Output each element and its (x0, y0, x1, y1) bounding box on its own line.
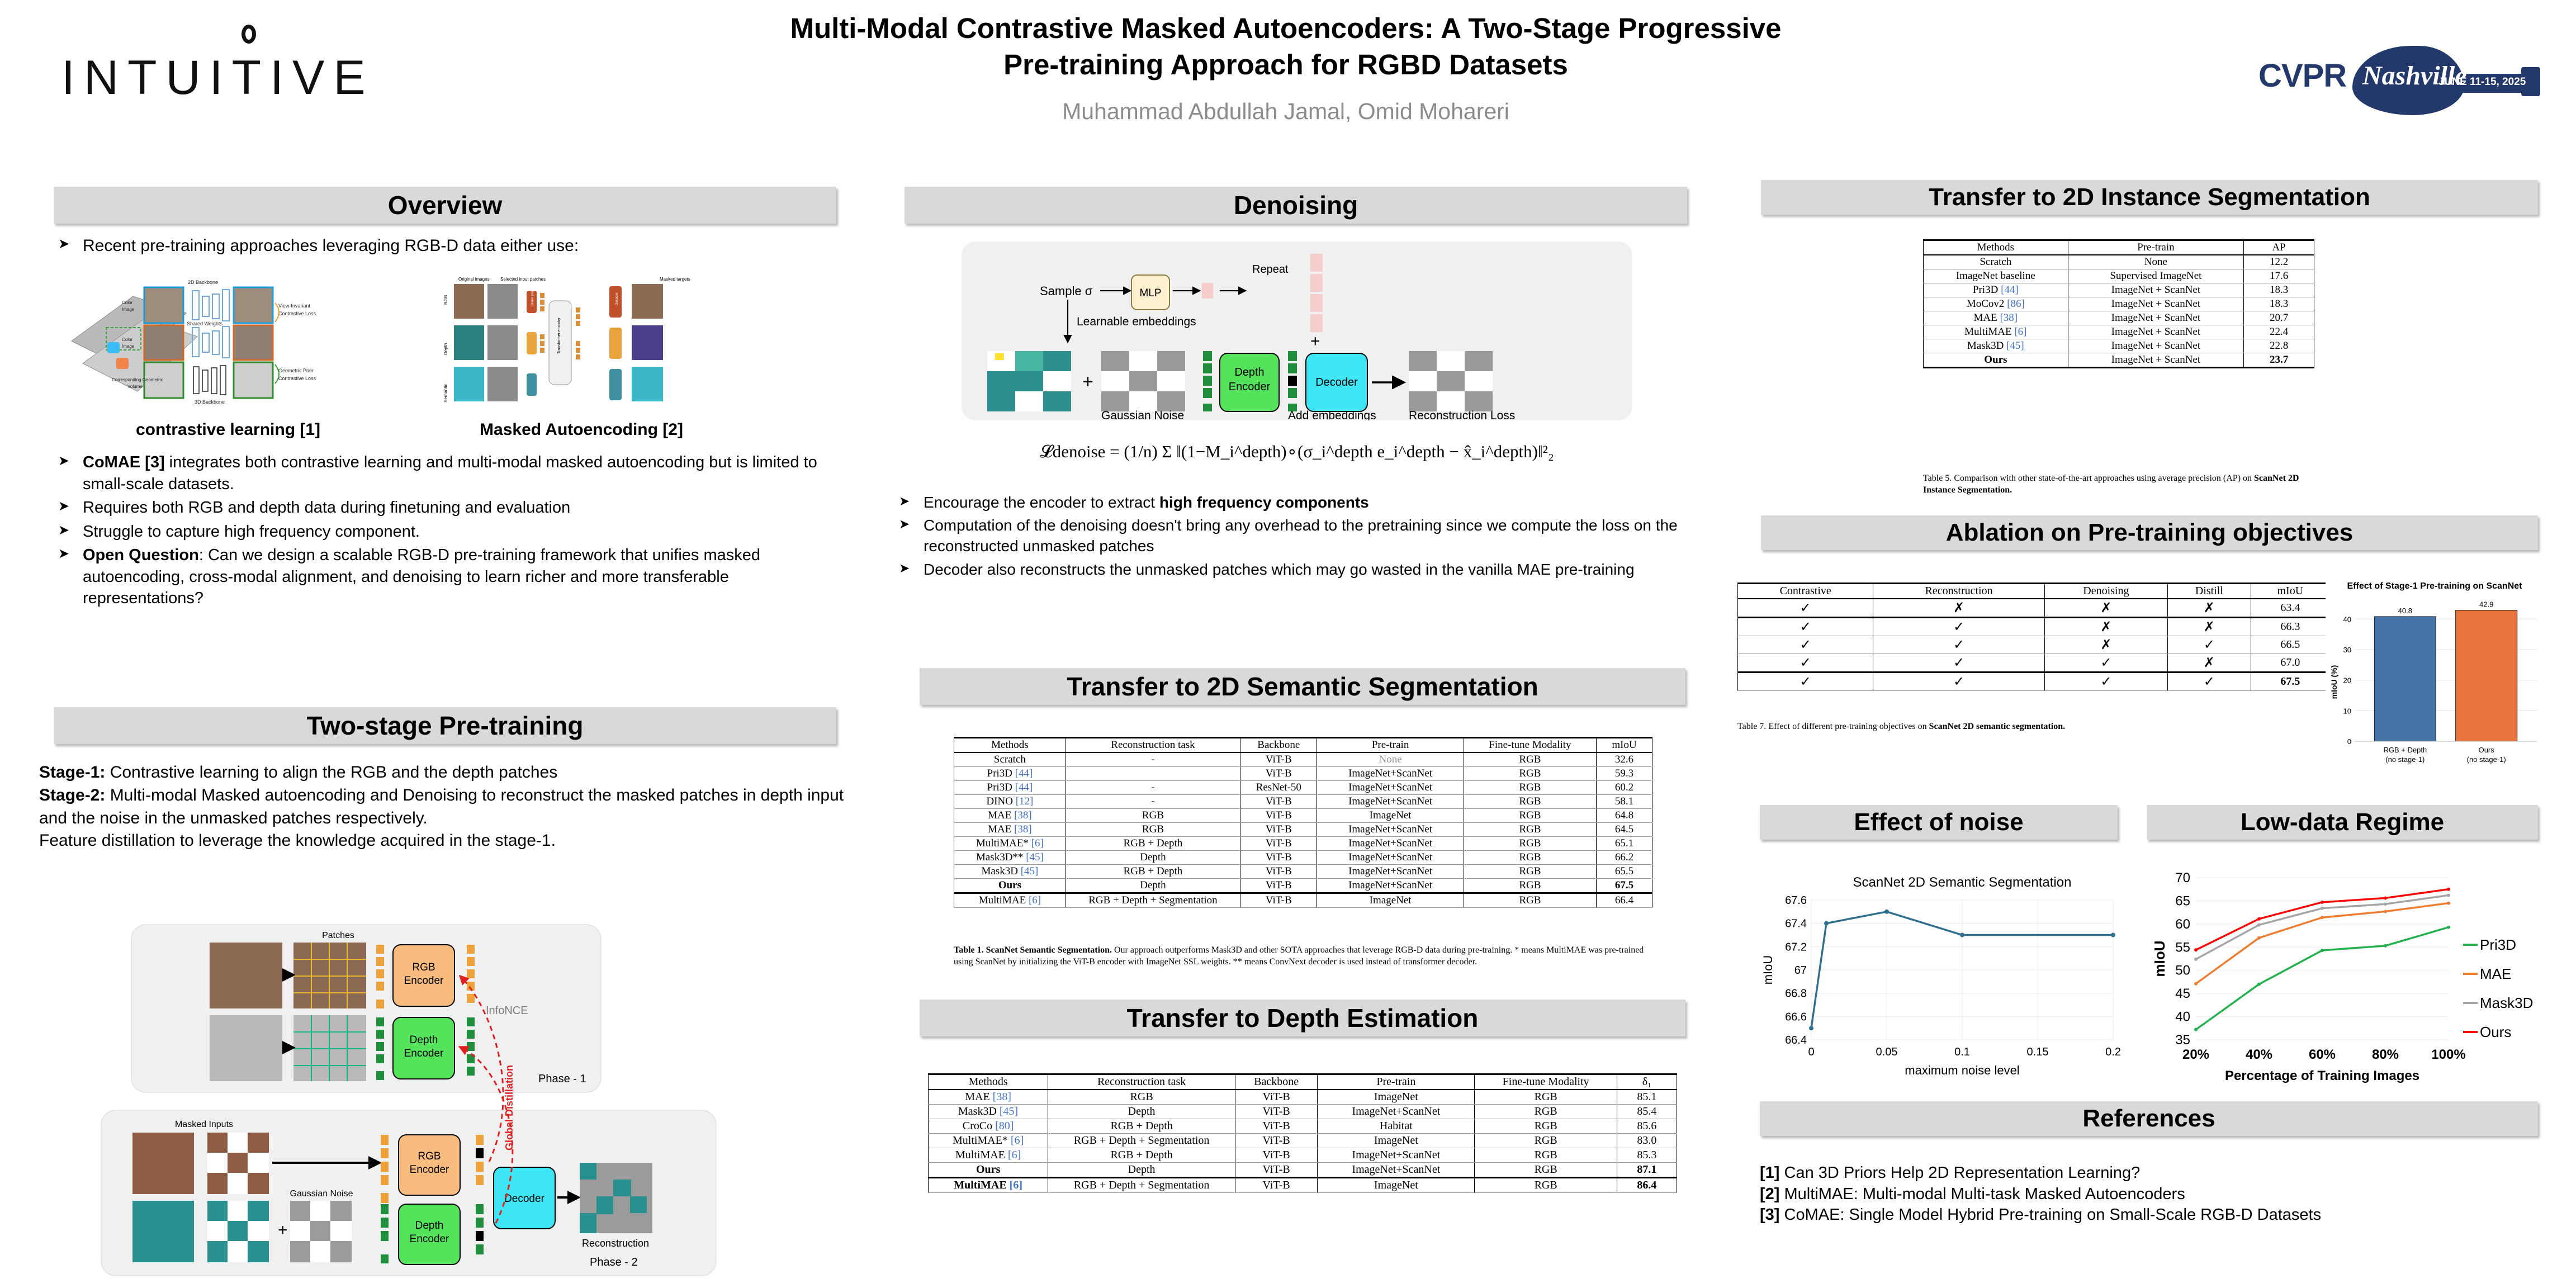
table-cell: ImageNet+ScanNet (1317, 865, 1464, 879)
table-header-cell: δ₁ (1617, 1074, 1677, 1090)
table-cell-miou: 66.5 (2251, 636, 2329, 654)
reference-text: CoMAE: Single Model Hybrid Pre-training … (1779, 1206, 2321, 1224)
poster-header: INTUITIVE Multi-Modal Contrastive Masked… (0, 0, 2576, 168)
denoising-diagram: Sample σ MLP Repeat Learnable embeddings… (962, 241, 1632, 420)
table-cell: ImageNet (1318, 1134, 1475, 1148)
table-cell: ViT-B (1240, 795, 1317, 809)
caption-number: Table 1. (954, 945, 984, 955)
svg-text:Encoder: Encoder (410, 1233, 449, 1245)
table-cell-mark: ✓ (1738, 636, 1873, 654)
table-cell: RGB (1475, 1163, 1617, 1178)
list-item: Decoder also reconstructs the unmasked p… (894, 559, 1705, 580)
label-masked-inputs: Masked Inputs (175, 1120, 233, 1129)
table-row: DINO [12]-ViT-BImageNet+ScanNetRGB58.1 (954, 795, 1652, 809)
x-tick-label: 60% (2309, 1047, 2336, 1062)
table-cell: ViT-B (1240, 809, 1317, 823)
label-repeat: Repeat (1252, 263, 1289, 276)
legend-label: Pri3D (2480, 936, 2516, 953)
table-cell: Scratch (954, 752, 1066, 767)
y-tick-label: 67 (1794, 964, 1807, 977)
x-tick-label: 80% (2372, 1047, 2399, 1062)
label-3d-backbone: 3D Backbone (195, 399, 225, 405)
label-depth-encoder-p1: Depth (410, 1034, 438, 1046)
table-header-cell: Backbone (1235, 1074, 1317, 1090)
data-point (2194, 948, 2198, 951)
table-cell: RGB (1475, 1134, 1617, 1148)
table-cell: Mask3D** [45] (954, 851, 1066, 865)
y-tick-label: 65 (2175, 893, 2190, 908)
svg-text:Volume: Volume (127, 384, 143, 389)
table-cell: MAE [38] (929, 1090, 1048, 1105)
figure-masked-autoencoding: Original images Selected input patches M… (442, 274, 721, 414)
table-cell: 17.6 (2244, 269, 2314, 283)
label-shared-weights: Shared Weights (187, 321, 222, 326)
table-cell: 85.1 (1617, 1090, 1677, 1105)
table-cell: ImageNet + ScanNet (2068, 339, 2244, 353)
table-cell-mark: ✗ (1873, 599, 2044, 618)
section-header-denoising: Denoising (905, 187, 1687, 224)
chart-effect-of-noise: ScanNet 2D Semantic Segmentation66.466.6… (1750, 861, 2130, 1085)
table-cell: ImageNet (1317, 893, 1464, 908)
list-item-text: Requires both RGB and depth data during … (83, 499, 570, 517)
legend-label: Ours (2480, 1024, 2511, 1040)
table-row: ✓✓✗✓66.5 (1738, 636, 2330, 654)
table-cell-mark: ✓ (1873, 673, 2044, 691)
table-cell: MAE [38] (954, 809, 1066, 823)
table-cell: RGB (1464, 823, 1596, 837)
table-cell: 65.1 (1597, 837, 1652, 851)
table-cell: ViT-B (1240, 823, 1317, 837)
table-cell-miou: 67.5 (2251, 673, 2329, 691)
table-cell: Depth (1066, 879, 1240, 893)
section-header-two-stage: Two-stage Pre-training (54, 707, 836, 744)
label-rgb-encoder-p1: RGB (412, 962, 435, 973)
data-point (2384, 902, 2387, 906)
label-reconstruction-loss: Reconstruction Loss (1409, 409, 1515, 420)
table-cell: RGB + Depth + Segmentation (1048, 1134, 1235, 1148)
table-cell: ViT-B (1240, 851, 1317, 865)
table-cell: 23.7 (2244, 353, 2314, 368)
y-tick-label: 67.4 (1785, 918, 1807, 930)
table-cell: 22.8 (2244, 339, 2314, 353)
list-item-bold: Open Question (83, 546, 199, 564)
table-semantic-segmentation: MethodsReconstruction taskBackbonePre-tr… (954, 737, 1652, 908)
section-header-ablation: Ablation on Pre-training objectives (1761, 515, 2538, 550)
table-row: MAE [38]ImageNet + ScanNet20.7 (1924, 311, 2314, 325)
data-point (1824, 921, 1829, 926)
authors: Muhammad Abdullah Jamal, Omid Mohareri (615, 98, 1957, 125)
table-instance-segmentation: MethodsPre-trainAPScratchNone12.2ImageNe… (1923, 239, 2314, 368)
table-cell: RGB (1475, 1105, 1617, 1119)
table-row: MoCov2 [86]ImageNet + ScanNet18.3 (1924, 297, 2314, 311)
label-decoder-p2: Decoder (504, 1193, 544, 1205)
table-cell-mark: ✓ (2044, 673, 2167, 691)
x-tick-label: (no stage-1) (2467, 755, 2506, 764)
table-cell: None (2068, 255, 2244, 269)
x-tick-label: RGB + Depth (2383, 746, 2427, 754)
svg-text:Encoder: Encoder (1229, 381, 1271, 393)
table-cell: MAE [38] (954, 823, 1066, 837)
table-row: MultiMAE* [6]RGB + Depth + SegmentationV… (929, 1134, 1677, 1148)
reference-number: [1] (1760, 1164, 1779, 1182)
table-row: ✓✓✓✓67.5 (1738, 673, 2330, 691)
table-cell: 22.4 (2244, 325, 2314, 339)
table-header-cell: AP (2244, 240, 2314, 255)
table-row: MultiMAE* [6]RGB + DepthViT-BImageNet+Sc… (954, 837, 1652, 851)
table-cell: Depth (1048, 1105, 1235, 1119)
table-row: Mask3D** [45]DepthViT-BImageNet+ScanNetR… (954, 851, 1652, 865)
stage-3-line: Feature distillation to leverage the kno… (39, 830, 855, 853)
x-tick-label: 0.1 (1954, 1046, 1970, 1058)
svg-text:Masked targets: Masked targets (660, 277, 690, 282)
intuitive-logo: INTUITIVE (61, 50, 375, 106)
data-point (2384, 910, 2387, 913)
table-cell: 18.3 (2244, 297, 2314, 311)
table-cell-mark: ✗ (2044, 618, 2167, 636)
table-cell: ResNet-50 (1240, 781, 1317, 795)
denoising-bullet-list: Encourage the encoder to extract high fr… (894, 492, 1705, 582)
table-cell: Pri3D [44] (954, 781, 1066, 795)
table-cell: Scratch (1924, 255, 2068, 269)
stage-2-text: Multi-modal Masked autoencoding and Deno… (39, 786, 844, 827)
table-cell: Habitat (1318, 1119, 1475, 1134)
table-cell-miou: 67.0 (2251, 654, 2329, 673)
section-header-instance-segmentation: Transfer to 2D Instance Segmentation (1761, 180, 2538, 215)
data-point (2321, 901, 2324, 904)
table-cell: MAE [38] (1924, 311, 2068, 325)
table-cell: - (1066, 795, 1240, 809)
svg-text:Selected input patches: Selected input patches (500, 277, 546, 282)
table-cell: Ours (929, 1163, 1048, 1178)
data-point (2447, 893, 2450, 897)
table-header-cell: Contrastive (1738, 584, 1873, 599)
svg-text:Decoder: Decoder (615, 292, 619, 305)
y-tick-label: 66.6 (1785, 1011, 1807, 1023)
table-cell: RGB (1048, 1090, 1235, 1105)
table-cell-mark: ✗ (2167, 654, 2251, 673)
table-header-cell: Pre-train (1317, 738, 1464, 753)
table-header-cell: Denoising (2044, 584, 2167, 599)
table-cell: RGB (1464, 879, 1596, 893)
x-tick-label: 20% (2182, 1047, 2209, 1062)
table-header-cell: Distill (2167, 584, 2251, 599)
table-cell-mark: ✗ (2044, 636, 2167, 654)
table-cell: RGB + Depth (1048, 1148, 1235, 1163)
figure-contrastive-learning: 2D Backbone Shared Weights 3D Backbone C… (66, 274, 390, 414)
table-cell: MultiMAE [6] (954, 893, 1066, 908)
x-tick-label: Ours (2479, 746, 2495, 754)
data-point (2384, 944, 2387, 948)
caption-bold: ScanNet 2D semantic segmentation. (1929, 722, 2066, 731)
list-item-text: Decoder also reconstructs the unmasked p… (924, 561, 1635, 578)
stage-2-label: Stage-2: (39, 786, 105, 804)
data-line-pri3d (2196, 927, 2449, 1030)
caption-bold: ScanNet Semantic Segmentation. (986, 945, 1112, 955)
x-tick-label: 0.05 (1876, 1046, 1898, 1058)
table-cell: ImageNet (1318, 1090, 1475, 1105)
table-cell: ImageNet+ScanNet (1317, 837, 1464, 851)
table-header-cell: Pre-train (1318, 1074, 1475, 1090)
table-cell: ImageNet+ScanNet (1318, 1105, 1475, 1119)
table-cell: ImageNet+ScanNet (1317, 767, 1464, 781)
svg-text:+: + (278, 1221, 288, 1239)
table-ablation-wrapper: ContrastiveReconstructionDenoisingDistil… (1737, 583, 2330, 691)
line-chart-lowdata-svg: 354045505560657020%40%60%80%100%Pri3DMAE… (2135, 861, 2549, 1096)
table-cell: ImageNet+ScanNet (1318, 1163, 1475, 1178)
table-cell-mark: ✓ (1738, 599, 1873, 618)
table-header-cell: mIoU (1597, 738, 1652, 753)
table-cell: 12.2 (2244, 255, 2314, 269)
data-point (2384, 896, 2387, 899)
table-cell: Mask3D [45] (954, 865, 1066, 879)
table-cell-mark: ✓ (1873, 654, 2044, 673)
data-point (2257, 983, 2261, 986)
section-header-depth-estimation: Transfer to Depth Estimation (920, 1000, 1685, 1036)
bar-label: 40.8 (2398, 607, 2412, 615)
y-tick-label: 67.2 (1785, 941, 1807, 953)
table-cell: Ours (1924, 353, 2068, 368)
cvpr-dates: JUNE 11-15, 2025 (2438, 76, 2526, 88)
table-header-cell: Methods (954, 738, 1066, 753)
table-row: Mask3D [45]RGB + DepthViT-BImageNet+Scan… (954, 865, 1652, 879)
title-line-2: Pre-training Approach for RGBD Datasets (615, 46, 1957, 83)
table-row: OursDepthViT-BImageNet+ScanNetRGB67.5 (954, 879, 1652, 893)
list-item: Encourage the encoder to extract high fr… (894, 492, 1705, 513)
x-tick-label: 40% (2246, 1047, 2272, 1062)
svg-text:Geometric Prior: Geometric Prior (278, 368, 314, 373)
list-item-bold: CoMAE [3] (83, 453, 165, 471)
svg-text:20: 20 (2343, 676, 2351, 685)
table-cell: ViT-B (1240, 879, 1317, 893)
svg-text:Semantic: Semantic (443, 384, 448, 402)
x-tick-label: 100% (2431, 1047, 2465, 1062)
table-cell: 85.4 (1617, 1105, 1677, 1119)
table-cell: RGB + Depth (1066, 837, 1240, 851)
logo-text: INTUITIVE (61, 51, 375, 105)
label-depth-encoder: Depth (1234, 366, 1264, 378)
table-header-cell: Methods (1924, 240, 2068, 255)
section-header-low-data-regime: Low-data Regime (2147, 805, 2538, 840)
table-cell: ImageNet+ScanNet (1317, 795, 1464, 809)
table-cell: 64.5 (1597, 823, 1652, 837)
table-cell: Depth (1066, 851, 1240, 865)
svg-text:Linear proj.: Linear proj. (531, 290, 534, 306)
table-row: MultiMAE [6]ImageNet + ScanNet22.4 (1924, 325, 2314, 339)
chart-stage1-bar: Effect of Stage-1 Pre-training on ScanNe… (2326, 581, 2544, 766)
x-axis-label: Percentage of Training Images (2225, 1068, 2419, 1083)
table-cell-mark: ✓ (1738, 673, 1873, 691)
table-cell: ImageNet+ScanNet (1317, 823, 1464, 837)
table-cell: ImageNet + ScanNet (2068, 353, 2244, 368)
reference-number: [3] (1760, 1206, 1779, 1224)
data-point (2257, 924, 2261, 927)
svg-text:View-Invariant: View-Invariant (278, 303, 310, 309)
table-header-cell: Pre-train (2068, 240, 2244, 255)
list-item: [3] CoMAE: Single Model Hybrid Pre-train… (1760, 1205, 2542, 1226)
caption-masked-autoencoding: Masked Autoencoding [2] (442, 420, 721, 439)
table-cell: CroCo [80] (929, 1119, 1048, 1134)
overview-bullet-list: CoMAE [3] integrates both contrastive le… (54, 452, 847, 612)
stage-1-text: Contrastive learning to align the RGB an… (105, 763, 557, 782)
label-depth-encoder-p2: Depth (415, 1220, 444, 1232)
table-depth-estimation-wrapper: MethodsReconstruction taskBackbonePre-tr… (928, 1073, 1677, 1193)
label-learnable-embeddings: Learnable embeddings (1077, 315, 1196, 328)
table-cell: MultiMAE* [6] (954, 837, 1066, 851)
table-header-cell: Reconstruction task (1066, 738, 1240, 753)
data-point (2321, 916, 2324, 919)
svg-text:Color: Color (122, 337, 132, 342)
label-sample-sigma: Sample σ (1040, 284, 1093, 298)
y-tick-label: 66.4 (1785, 1034, 1807, 1046)
two-stage-diagram: Patches RGB Encoder Depth Enc (98, 921, 808, 1279)
table-cell: ImageNet (1318, 1178, 1475, 1193)
svg-text:+: + (1082, 371, 1093, 392)
table-cell: ViT-B (1240, 767, 1317, 781)
table-row: MAE [38]RGBViT-BImageNetRGB85.1 (929, 1090, 1677, 1105)
table-cell: Pri3D [44] (1924, 283, 2068, 297)
table-row: MultiMAE [6]RGB + Depth + SegmentationVi… (929, 1178, 1677, 1193)
table-cell-mark: ✓ (2167, 673, 2251, 691)
svg-text:Contrastive Loss: Contrastive Loss (278, 311, 316, 316)
denoising-equation: 𝓛denoise = (1/n) Σ ‖(1−M_i^depth)∘(σ_i^d… (950, 442, 1644, 462)
data-point (1960, 933, 1964, 937)
label-infonce: InfoNCE (486, 1005, 528, 1017)
table-cell: 59.3 (1597, 767, 1652, 781)
y-axis-label: mIoU (2151, 941, 2168, 977)
table-cell: ViT-B (1235, 1105, 1317, 1119)
bar-label: 42.9 (2479, 600, 2493, 608)
table-header-cell: Fine-tune Modality (1475, 1074, 1617, 1090)
table-cell: ViT-B (1240, 837, 1317, 851)
label-rgb-encoder-p2: RGB (418, 1150, 441, 1162)
table-cell-mark: ✓ (2167, 636, 2251, 654)
data-point (1809, 1026, 1813, 1030)
svg-text:Encoder: Encoder (404, 1048, 444, 1059)
table-cell-mark: ✓ (1738, 618, 1873, 636)
table-cell: - (1066, 781, 1240, 795)
table-header-cell: Reconstruction (1873, 584, 2044, 599)
overview-lead-bullet-list: Recent pre-training approaches leveragin… (54, 235, 847, 259)
table-cell: 64.8 (1597, 809, 1652, 823)
data-point (2194, 982, 2198, 986)
table-row: OursDepthViT-BImageNet+ScanNetRGB87.1 (929, 1163, 1677, 1178)
page-title: Multi-Modal Contrastive Masked Autoencod… (615, 10, 1957, 83)
y-tick-label: 45 (2175, 986, 2190, 1001)
label-2d-backbone: 2D Backbone (188, 280, 218, 285)
table-instance-segmentation-wrapper: MethodsPre-trainAPScratchNone12.2ImageNe… (1923, 239, 2314, 368)
table-cell: ImageNet (1317, 809, 1464, 823)
stage-1-label: Stage-1: (39, 763, 105, 782)
table-cell: ImageNet+ScanNet (1318, 1148, 1475, 1163)
bar (2374, 617, 2436, 741)
data-point (1884, 910, 1889, 914)
table-cell: 58.1 (1597, 795, 1652, 809)
caption-number: Table 7. (1737, 722, 1766, 731)
table-cell: Supervised ImageNet (2068, 269, 2244, 283)
x-tick-label: (no stage-1) (2385, 755, 2425, 764)
y-tick-label: 70 (2175, 870, 2190, 885)
label-plus-top: + (1310, 332, 1320, 351)
data-point (2321, 949, 2324, 952)
table-cell: RGB (1066, 823, 1240, 837)
data-point (2447, 902, 2450, 905)
list-item: Computation of the denoising doesn't bri… (894, 515, 1705, 556)
table-header-cell: Methods (929, 1074, 1048, 1090)
table-row: MAE [38]RGBViT-BImageNetRGB64.8 (954, 809, 1652, 823)
table-cell-mark: ✗ (2044, 599, 2167, 618)
table-row: MultiMAE [6]RGB + DepthViT-BImageNet+Sca… (929, 1148, 1677, 1163)
table-cell: MoCov2 [86] (1924, 297, 2068, 311)
caption-table-7: Table 7. Effect of different pre-trainin… (1737, 721, 2285, 733)
svg-text:RGB: RGB (443, 295, 448, 305)
table-cell: RGB (1464, 865, 1596, 879)
list-item-bold: high frequency components (1159, 494, 1369, 511)
caption-table-1: Table 1. ScanNet Semantic Segmentation. … (954, 945, 1652, 968)
table-cell: ImageNet+ScanNet (1317, 851, 1464, 865)
table-row: ImageNet baselineSupervised ImageNet17.6 (1924, 269, 2314, 283)
table-cell: ImageNet+ScanNet (1317, 879, 1464, 893)
table-cell: MultiMAE [6] (1924, 325, 2068, 339)
table-row: OursImageNet + ScanNet23.7 (1924, 353, 2314, 368)
table-cell: Ours (954, 879, 1066, 893)
data-point (2257, 936, 2261, 940)
svg-text:Encoder: Encoder (404, 975, 444, 987)
stage-1-line: Stage-1: Contrastive learning to align t… (39, 761, 855, 784)
y-tick-label: 35 (2175, 1033, 2190, 1048)
table-cell: RGB (1464, 795, 1596, 809)
label-decoder: Decoder (1315, 376, 1358, 389)
table-cell: ViT-B (1235, 1178, 1317, 1193)
contrastive-learning-diagram: 2D Backbone Shared Weights 3D Backbone C… (66, 274, 390, 414)
list-item: Open Question: Can we design a scalable … (54, 544, 847, 609)
table-cell: RGB + Depth + Segmentation (1066, 893, 1240, 908)
table-header-cell: mIoU (2251, 584, 2329, 599)
table-cell: RGB (1464, 781, 1596, 795)
table-cell: Mask3D [45] (1924, 339, 2068, 353)
table-cell: - (1066, 752, 1240, 767)
data-point (2194, 1028, 2198, 1031)
table-cell: RGB + Depth (1048, 1119, 1235, 1134)
data-point (2111, 933, 2115, 937)
list-item: CoMAE [3] integrates both contrastive le… (54, 452, 847, 495)
table-cell: RGB (1475, 1119, 1617, 1134)
table-cell: RGB (1464, 752, 1596, 767)
table-cell: Pri3D [44] (954, 767, 1066, 781)
data-point (2321, 907, 2324, 910)
table-cell: MultiMAE* [6] (929, 1134, 1048, 1148)
list-item-text: Encourage the encoder to extract (924, 494, 1159, 511)
figure-two-stage-pretraining: Patches RGB Encoder Depth Enc (98, 921, 808, 1279)
table-row: Pri3D [44]ImageNet + ScanNet18.3 (1924, 283, 2314, 297)
table-ablation: ContrastiveReconstructionDenoisingDistil… (1737, 583, 2330, 691)
chart-low-data-regime: 354045505560657020%40%60%80%100%Pri3DMAE… (2135, 861, 2549, 1096)
table-cell: 20.7 (2244, 311, 2314, 325)
table-cell: 18.3 (2244, 283, 2314, 297)
table-cell: ViT-B (1235, 1134, 1317, 1148)
svg-text:Image: Image (122, 307, 135, 312)
table-cell: RGB (1464, 767, 1596, 781)
table-cell: ViT-B (1240, 865, 1317, 879)
table-cell: 60.2 (1597, 781, 1652, 795)
table-depth-estimation: MethodsReconstruction taskBackbonePre-tr… (928, 1073, 1677, 1193)
caption-contrastive-learning: contrastive learning [1] (66, 420, 390, 439)
label-phase-2: Phase - 2 (590, 1256, 638, 1268)
figure-denoising: Sample σ MLP Repeat Learnable embeddings… (962, 241, 1632, 420)
table-cell: ViT-B (1240, 893, 1317, 908)
table-header-cell: Backbone (1240, 738, 1317, 753)
caption-text: Effect of different pre-training objecti… (1766, 722, 1929, 731)
y-tick-label: 50 (2175, 963, 2190, 978)
